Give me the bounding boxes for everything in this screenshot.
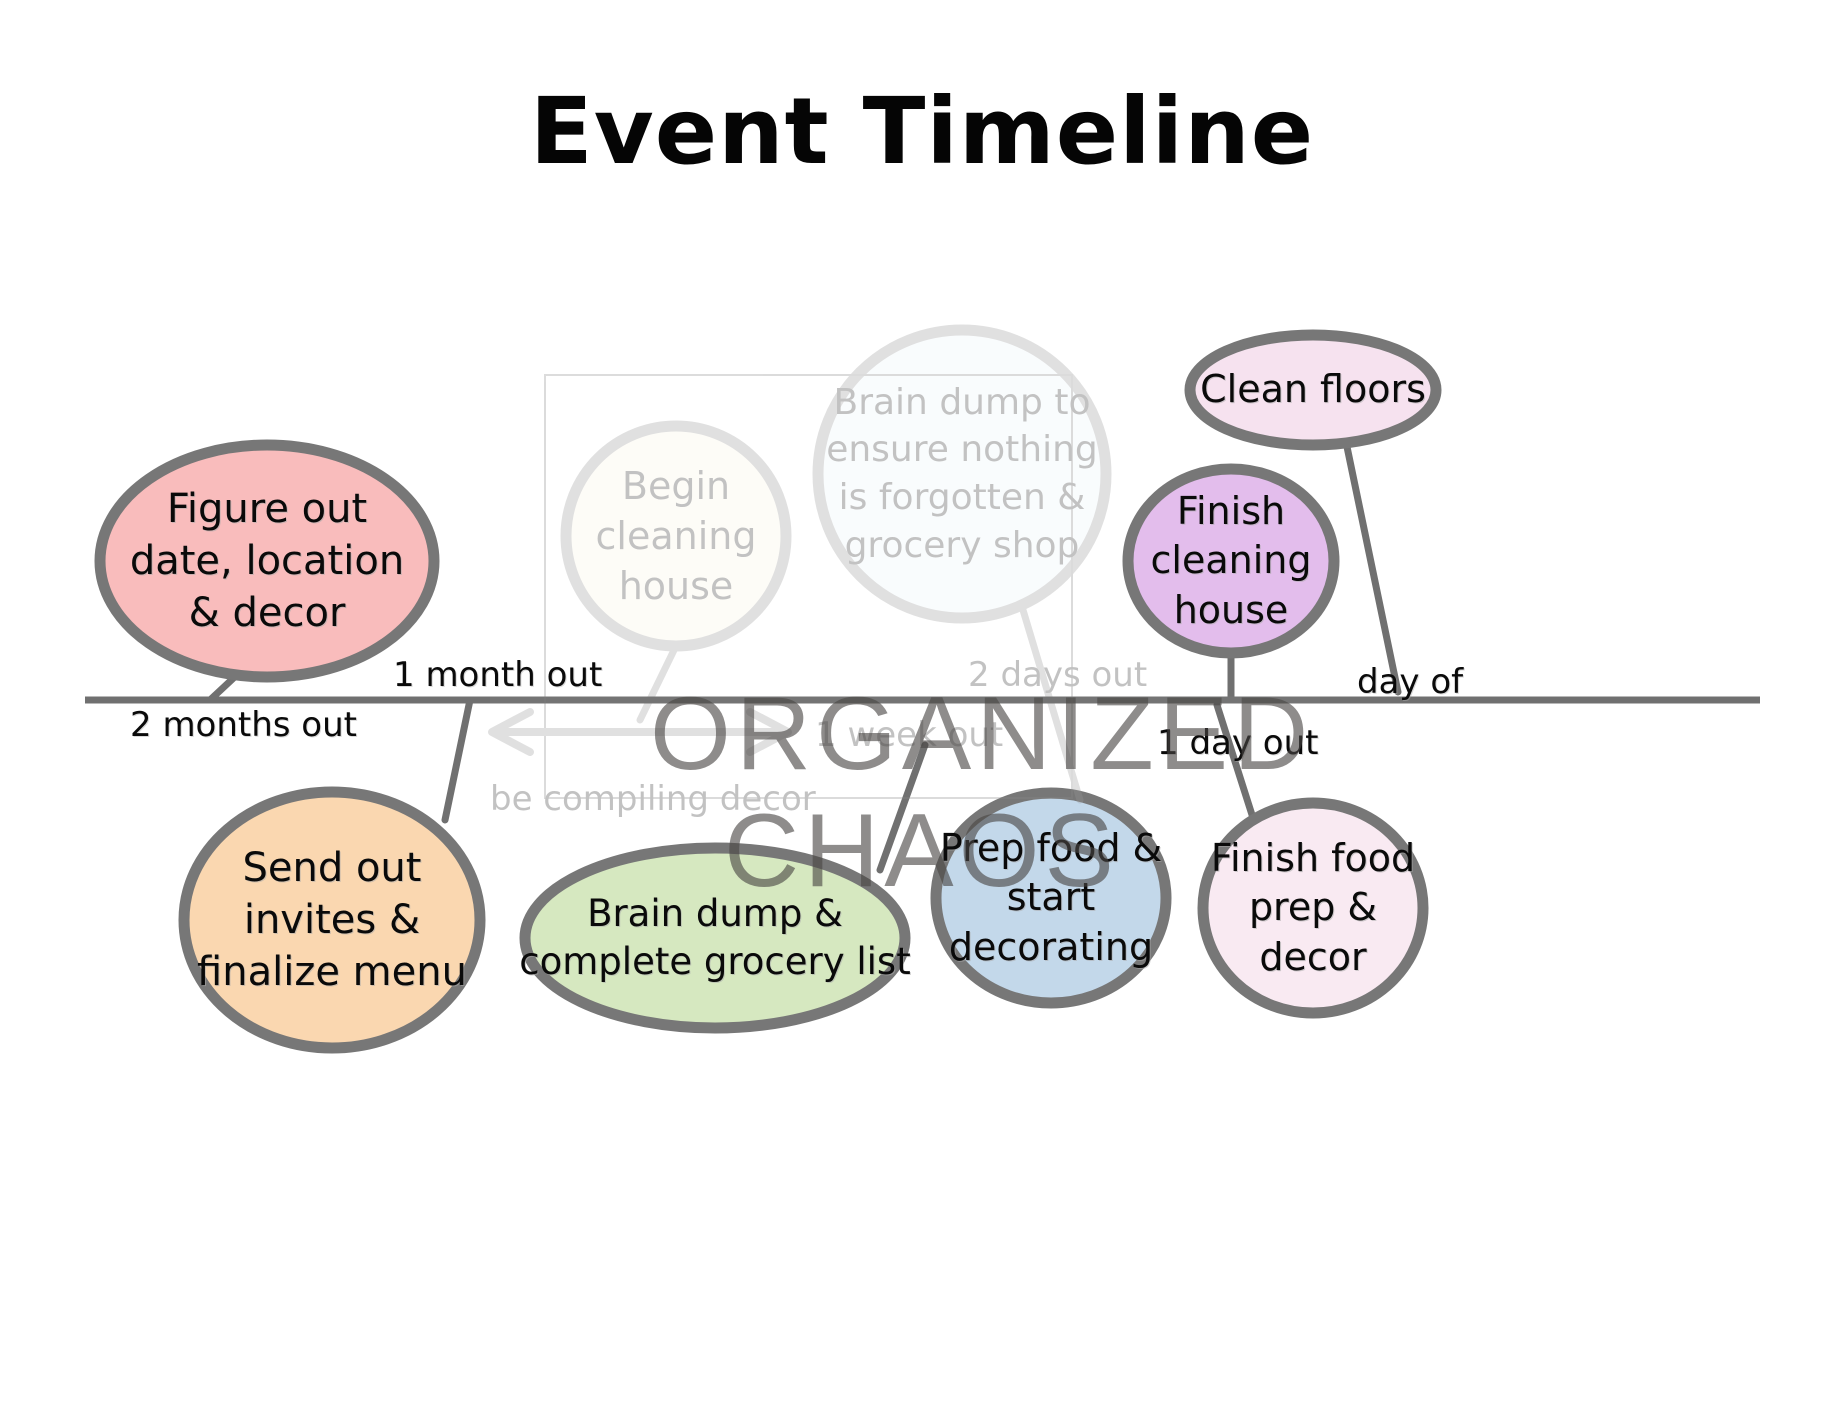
node-ellipse-prep-food-decorate[interactable] xyxy=(936,793,1166,1003)
node-ellipse-clean-floors[interactable] xyxy=(1190,335,1436,445)
timeline-label-1-month-out: 1 month out xyxy=(393,655,602,695)
connector-clean-floors xyxy=(1346,442,1398,692)
timeline-label-day-of: day of xyxy=(1357,662,1463,702)
diagram-canvas: Event Timeline Figure out date, location… xyxy=(0,0,1844,1425)
node-ellipse-finish-cleaning-house[interactable] xyxy=(1128,469,1334,653)
node-ellipses xyxy=(100,335,1436,1048)
connector-brain-dump-grocery xyxy=(880,745,925,870)
node-ellipse-figure-out-date[interactable] xyxy=(100,445,434,677)
timeline-label-2-months-out: 2 months out xyxy=(130,705,357,745)
node-ellipse-send-out-invites[interactable] xyxy=(184,792,480,1048)
connector-send-out-invites xyxy=(445,700,470,820)
node-ellipse-brain-dump-grocery[interactable] xyxy=(525,848,905,1028)
node-ellipse-finish-food-prep[interactable] xyxy=(1203,803,1423,1013)
timeline-label-1-day-out: 1 day out xyxy=(1157,723,1318,763)
